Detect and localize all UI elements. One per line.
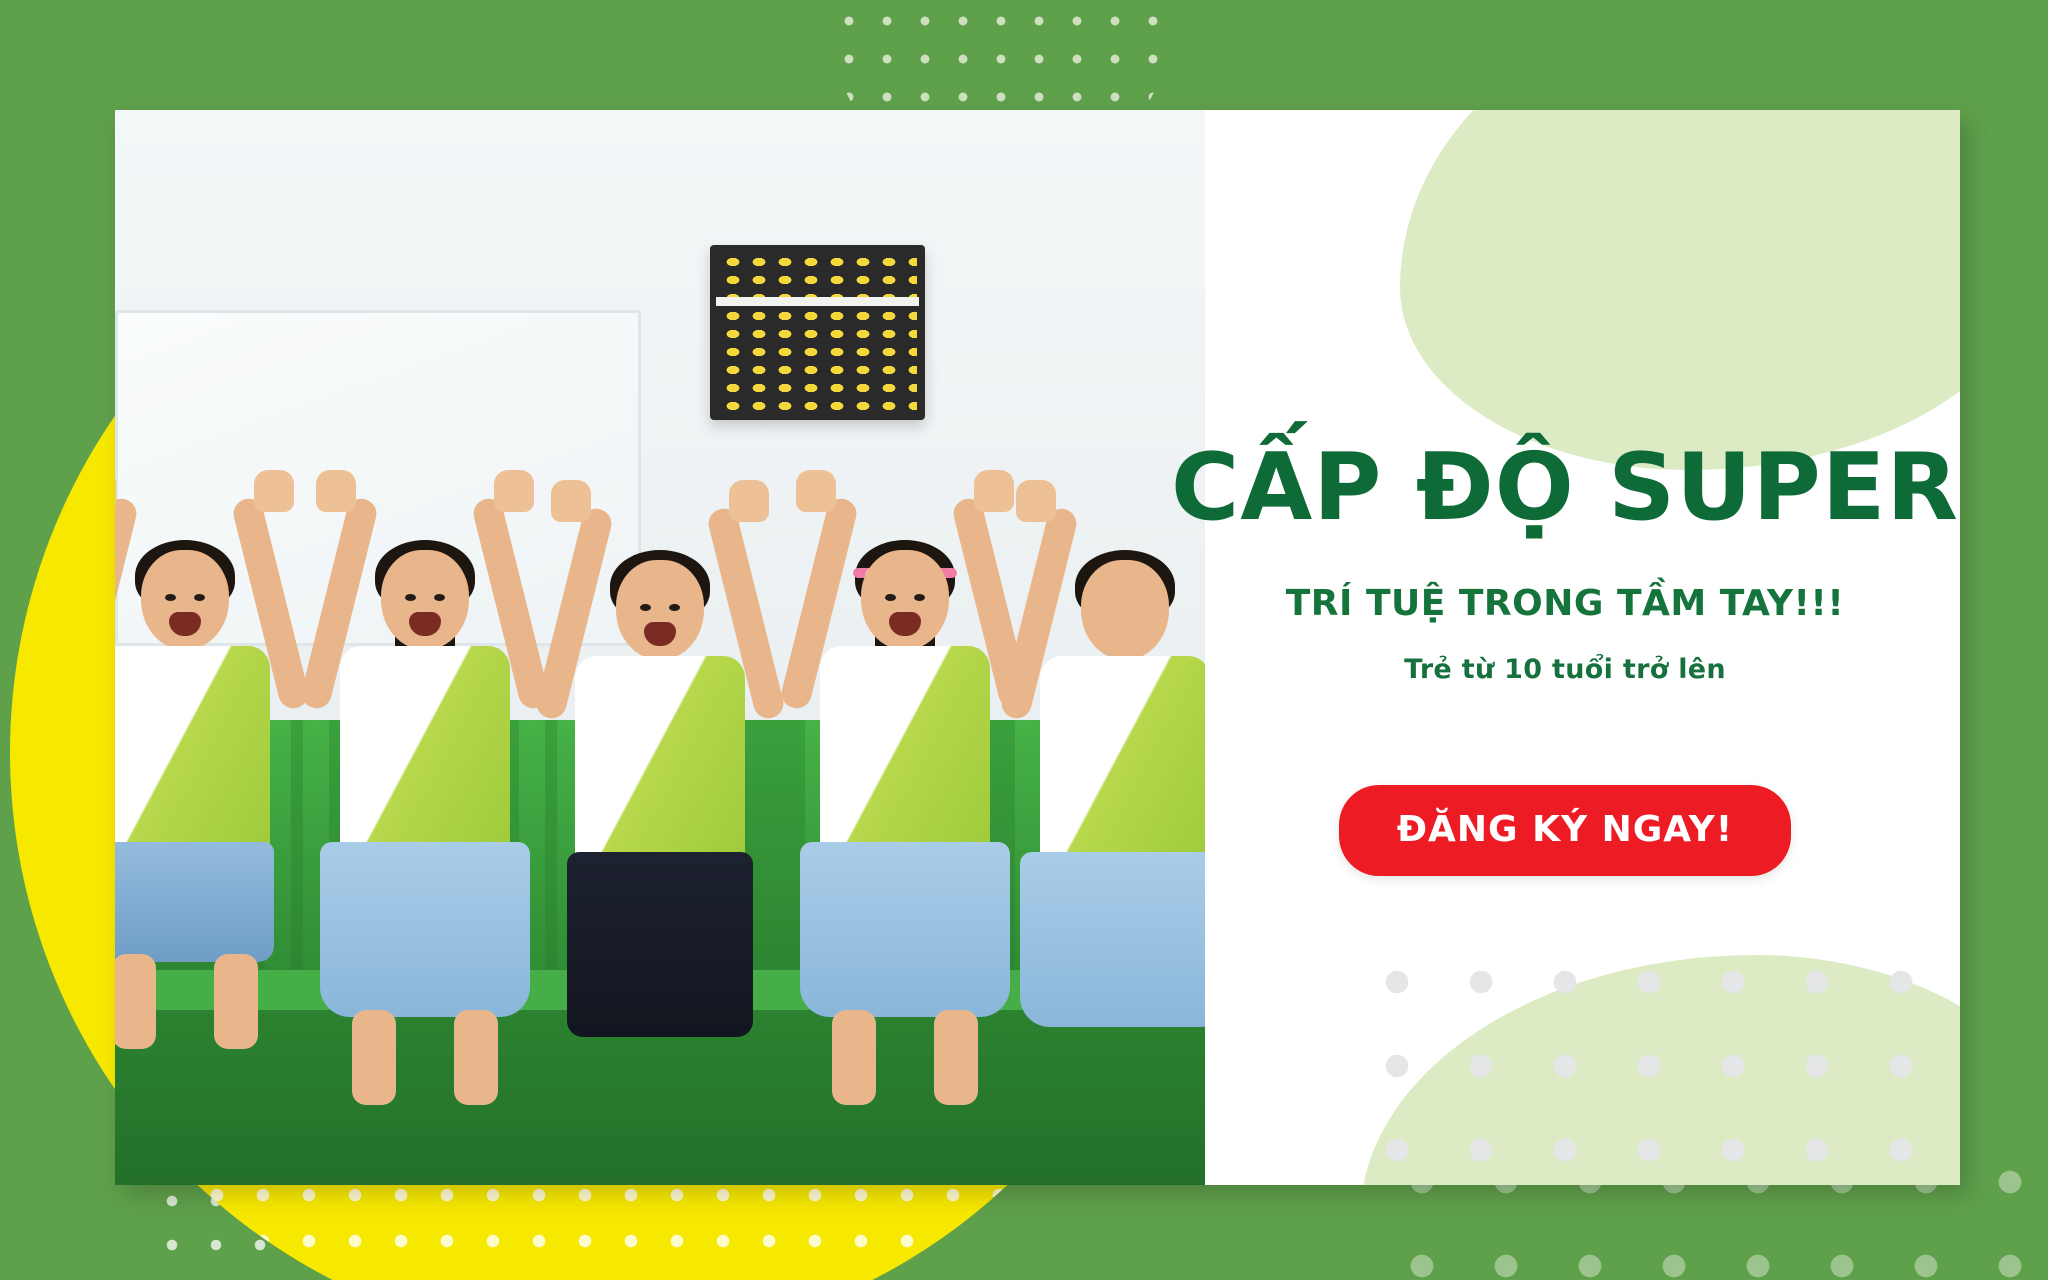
dot-pattern-card <box>1355 940 1960 1185</box>
register-now-button[interactable]: ĐĂNG KÝ NGAY! <box>1339 785 1791 876</box>
green-blob-top-right <box>1400 110 1960 470</box>
page-title: CẤP ĐỘ SUPER <box>1170 440 1960 535</box>
age-requirement-note: Trẻ từ 10 tuổi trở lên <box>1170 654 1960 685</box>
subtitle: TRÍ TUỆ TRONG TẦM TAY!!! <box>1170 583 1960 624</box>
promo-text-block: CẤP ĐỘ SUPER TRÍ TUỆ TRONG TẦM TAY!!! Tr… <box>1170 440 1960 876</box>
promo-banner: Su <box>0 0 2048 1280</box>
cta-wrapper: ĐĂNG KÝ NGAY! <box>1170 785 1960 876</box>
card-left-wash <box>115 110 1205 1185</box>
